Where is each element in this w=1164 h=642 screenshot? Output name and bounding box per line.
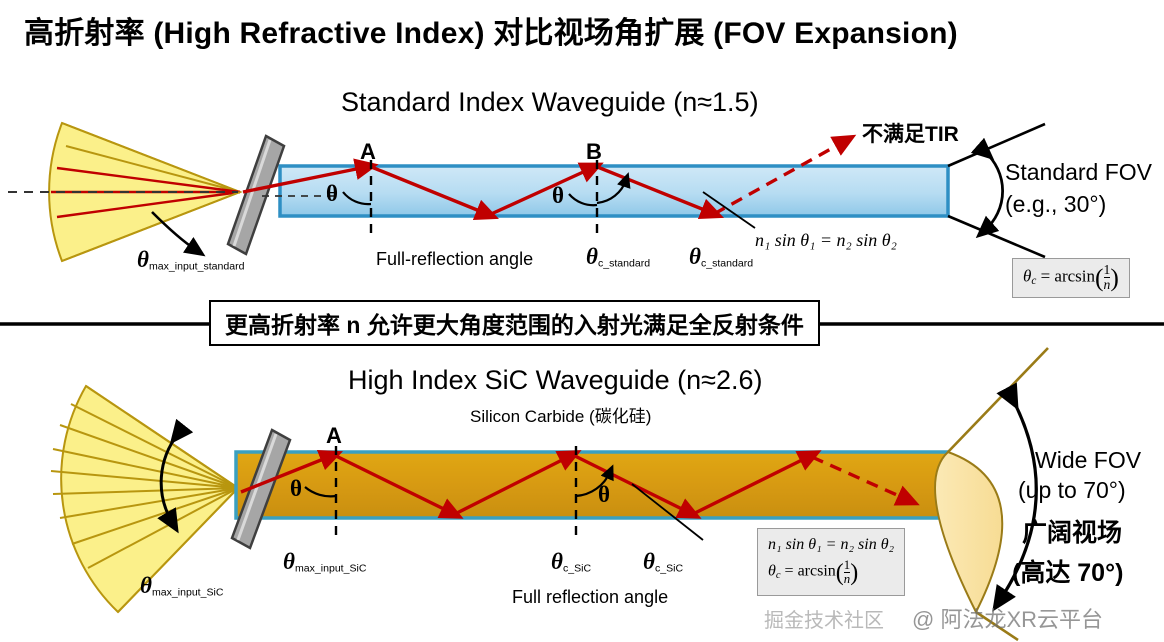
top-full-reflection-label: Full-reflection angle bbox=[376, 250, 533, 269]
top-theta-c-label-2: θc_standard bbox=[689, 245, 753, 269]
top-fov-line1: Standard FOV bbox=[1005, 160, 1152, 184]
top-theta-a-symbol: θ bbox=[326, 182, 338, 206]
top-theta-b-symbol: θ bbox=[552, 184, 564, 208]
theta-subscript: c_standard bbox=[598, 257, 650, 269]
top-incoupler bbox=[228, 136, 284, 254]
theta-glyph: θ bbox=[283, 549, 295, 574]
formula-operator: = arcsin bbox=[785, 563, 836, 580]
theta-glyph: θ bbox=[140, 573, 152, 598]
watermark-left: 掘金技术社区 bbox=[764, 604, 884, 633]
bottom-formula-box: n₁ sin θ₁ = n₂ sin θ₂ θc = arcsin(1n) bbox=[757, 528, 905, 596]
bottom-theta-c-label-2: θc_SiC bbox=[643, 550, 683, 574]
bottom-waveguide-slab bbox=[236, 452, 948, 518]
theta-subscript: max_input_standard bbox=[149, 260, 245, 272]
theta-glyph: θ bbox=[586, 244, 598, 269]
key-message-banner: 更高折射率 n 允许更大角度范围的入射光满足全反射条件 bbox=[209, 300, 820, 346]
bottom-theta-a-symbol: θ bbox=[290, 477, 302, 501]
formula-theta-sub: c bbox=[776, 570, 781, 581]
top-point-b-label: B bbox=[586, 140, 602, 163]
theta-glyph: θ bbox=[643, 549, 655, 574]
formula-theta: θ bbox=[768, 563, 776, 580]
top-fov-line2: (e.g., 30°) bbox=[1005, 192, 1106, 216]
theta-glyph: θ bbox=[137, 247, 149, 272]
formula-operator: = arcsin bbox=[1041, 266, 1095, 285]
bottom-point-a-label: A bbox=[326, 424, 342, 447]
top-critical-angle-formula: θc = arcsin(1n) bbox=[1012, 258, 1130, 298]
bottom-full-reflection-label: Full reflection angle bbox=[512, 588, 668, 607]
theta-subscript: c_standard bbox=[701, 257, 753, 269]
bottom-section-heading: High Index SiC Waveguide (n≈2.6) bbox=[348, 366, 763, 394]
top-snell-equation: n₁ sin θ₁ = n₂ sin θ₂ bbox=[755, 231, 897, 250]
diagram-canvas: 高折射率 (High Refractive Index) 对比视场角扩展 (FO… bbox=[0, 0, 1164, 642]
theta-subscript: max_input_SiC bbox=[295, 562, 367, 574]
bottom-fov-cn2: (高达 70°) bbox=[1012, 560, 1123, 586]
theta-glyph: θ bbox=[689, 244, 701, 269]
bottom-theta-c-label-1: θc_SiC bbox=[551, 550, 591, 574]
theta-subscript: c_SiC bbox=[563, 562, 591, 574]
theta-subscript: c_SiC bbox=[655, 562, 683, 574]
top-point-a-label: A bbox=[360, 140, 376, 163]
top-theta-max-input: θmax_input_standard bbox=[137, 248, 245, 272]
top-tir-fail-label: 不满足TIR bbox=[862, 124, 959, 146]
bottom-fov-line1: Wide FOV bbox=[1035, 448, 1141, 472]
bottom-theta-c-symbol: θ bbox=[598, 483, 610, 507]
bottom-snell-equation: n₁ sin θ₁ = n₂ sin θ₂ bbox=[768, 533, 894, 556]
top-theta-c-label-1: θc_standard bbox=[586, 245, 650, 269]
bottom-fov-line2: (up to 70°) bbox=[1018, 478, 1126, 502]
theta-glyph: θ bbox=[551, 549, 563, 574]
theta-subscript: max_input_SiC bbox=[152, 586, 224, 598]
bottom-critical-angle-formula: θc = arcsin(1n) bbox=[768, 556, 894, 591]
bottom-theta-max-input-inner: θmax_input_SiC bbox=[283, 550, 366, 574]
bottom-fov-cn1: 广阔视场 bbox=[1022, 520, 1122, 546]
bottom-material-label: Silicon Carbide (碳化硅) bbox=[470, 408, 651, 426]
formula-theta-sub: c bbox=[1031, 275, 1036, 287]
watermark-right: @ 阿法龙XR云平台 bbox=[912, 602, 1103, 634]
bottom-theta-max-input-fan: θmax_input_SiC bbox=[140, 574, 223, 598]
